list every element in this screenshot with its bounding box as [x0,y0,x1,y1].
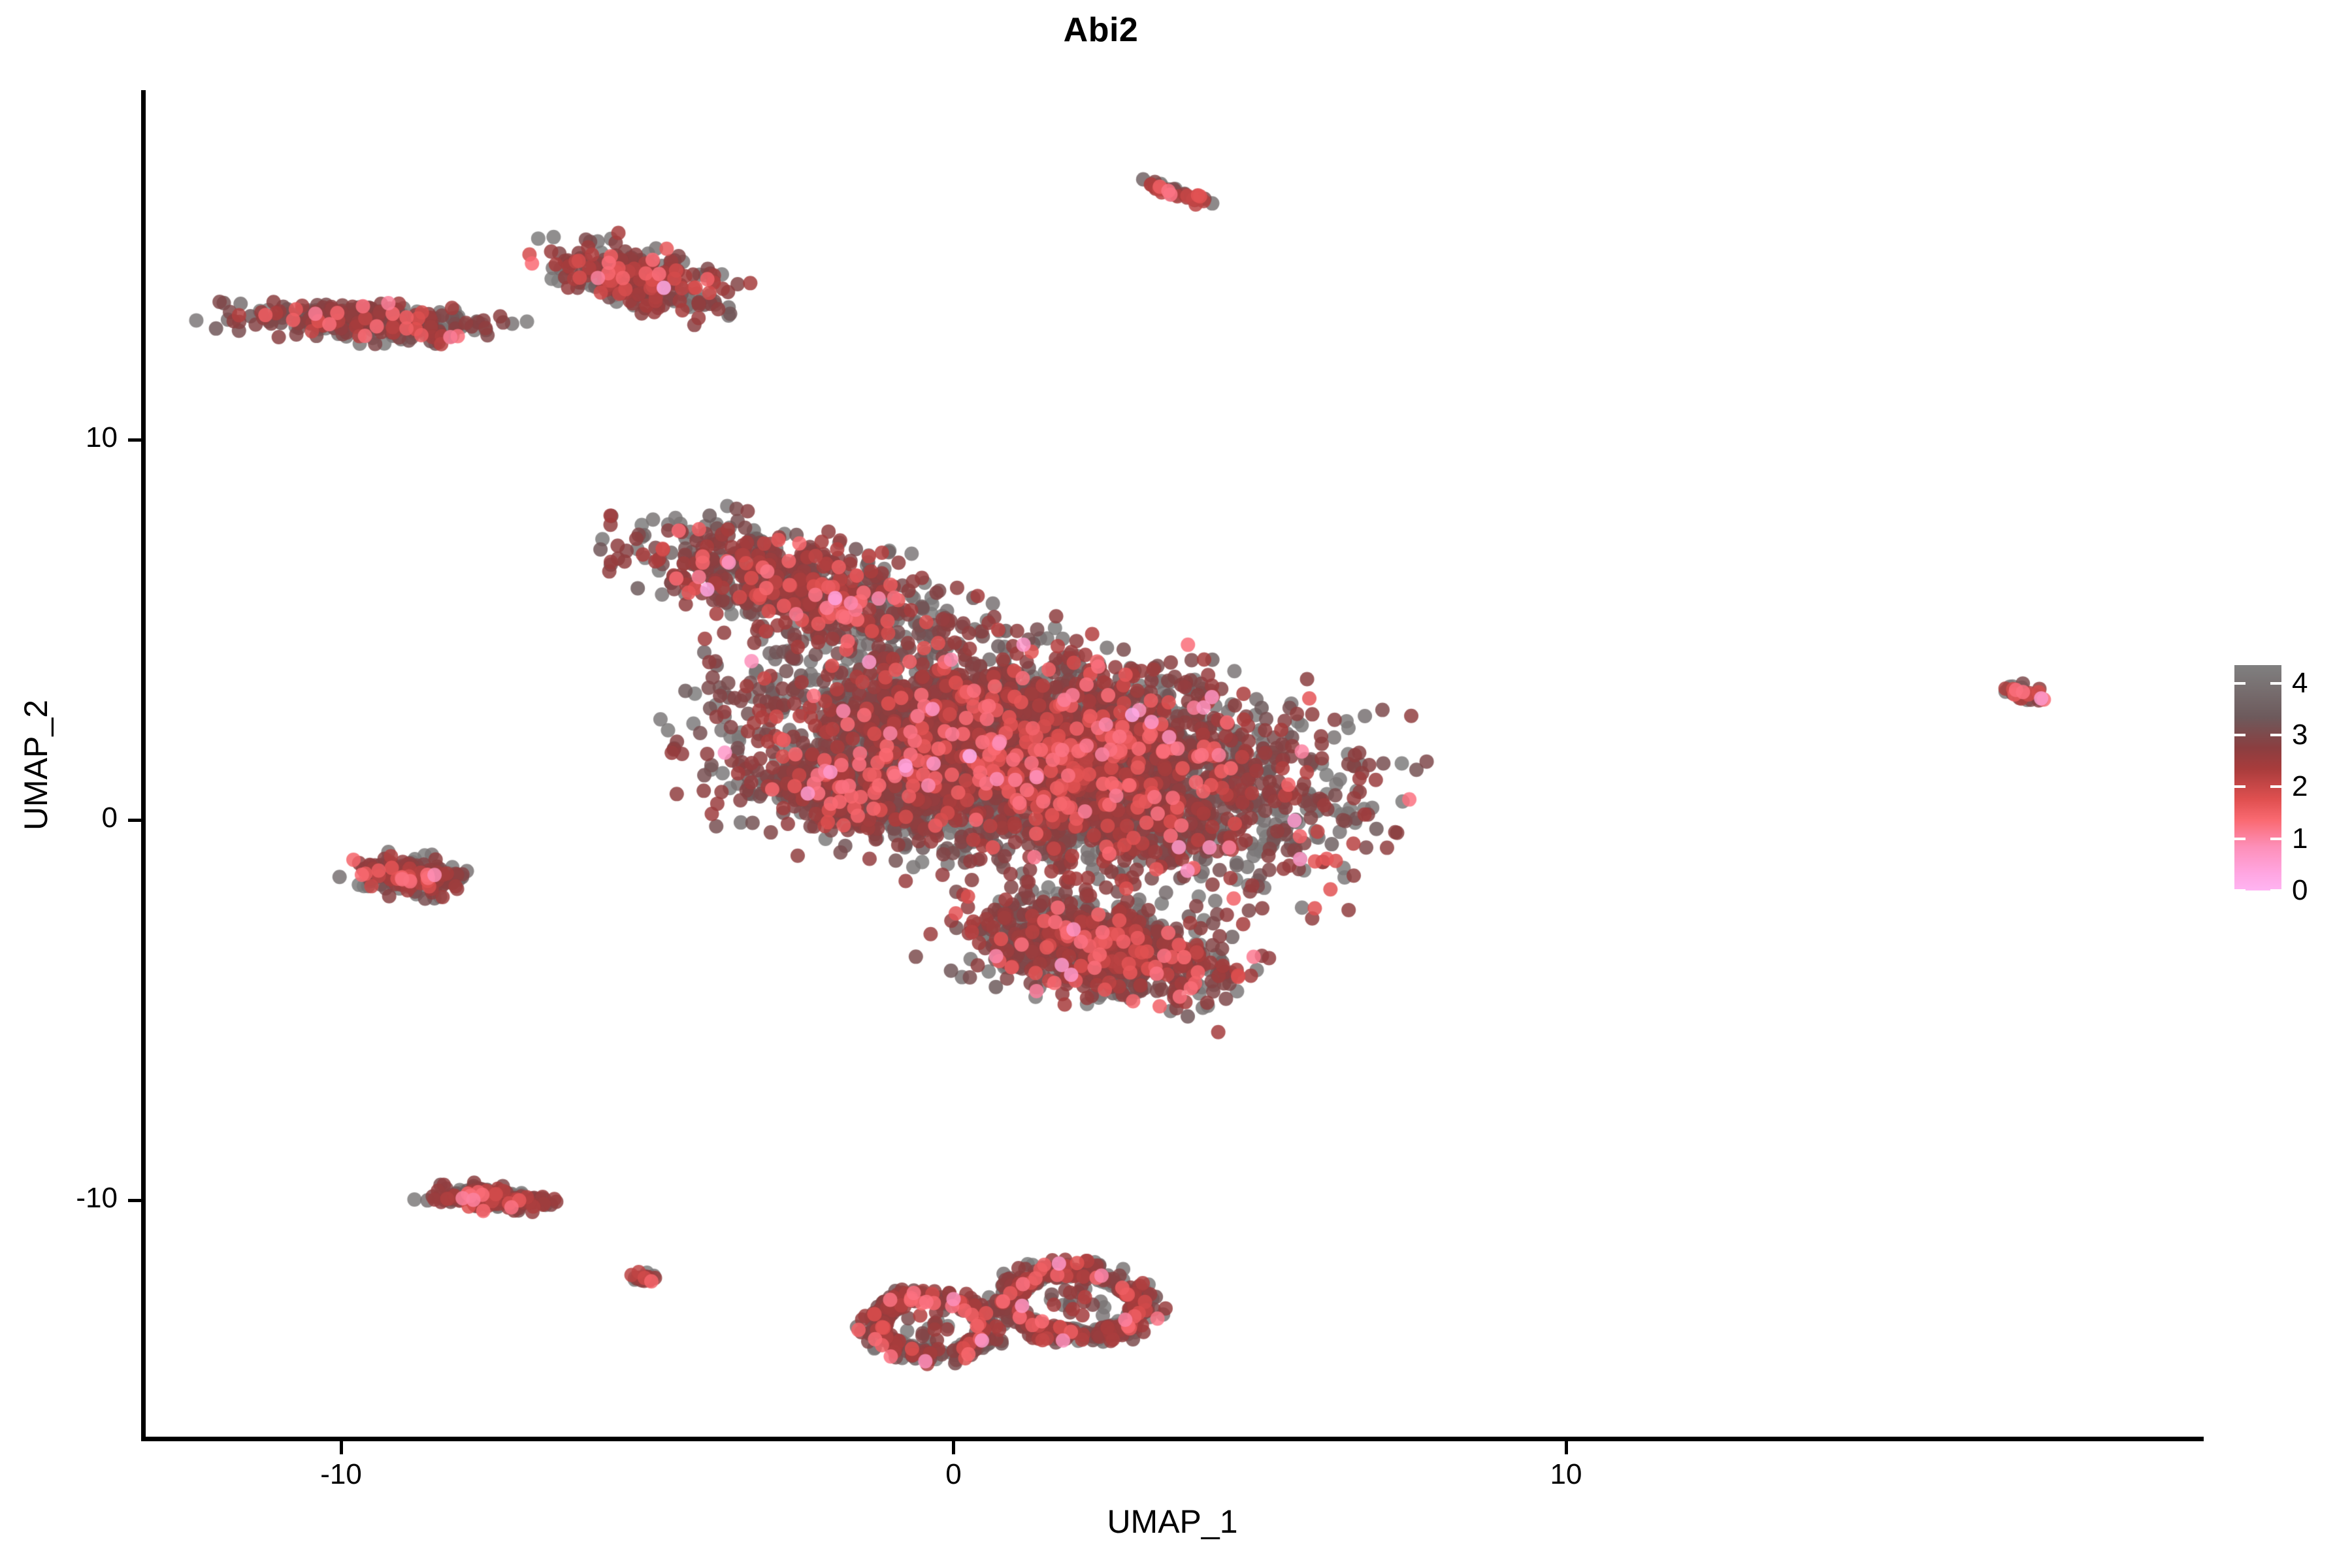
plot-panel [145,90,2203,1440]
x-tick-label: 0 [945,1458,961,1491]
scatter-points-canvas [145,90,2203,1440]
legend-tick-label: 3 [2292,721,2308,749]
legend-tick-label: 0 [2292,876,2308,905]
x-tick-label: -10 [320,1458,362,1491]
legend-tick-label: 1 [2292,825,2308,853]
y-tick-mark [128,819,141,822]
y-tick-mark [128,438,141,442]
color-legend: 01234 [2234,665,2339,890]
x-tick-mark [1565,1441,1568,1454]
umap-feature-plot: Abi2 -10010 -10010 UMAP_1 UMAP_2 01234 [0,0,2352,1568]
x-tick-mark [952,1441,955,1454]
x-axis-line [141,1437,2204,1441]
y-tick-mark [128,1199,141,1202]
y-tick-label: 10 [0,421,118,454]
x-tick-label: 10 [1550,1458,1582,1491]
legend-tick-label: 4 [2292,669,2308,698]
legend-tick-label: 2 [2292,772,2308,801]
x-axis-title: UMAP_1 [141,1503,2204,1541]
legend-colorbar [2234,665,2281,890]
y-axis-title: UMAP_2 [17,556,55,974]
x-tick-mark [340,1441,343,1454]
page-title: Abi2 [0,12,2202,49]
y-tick-label: -10 [0,1182,118,1215]
y-axis-line [141,90,146,1441]
